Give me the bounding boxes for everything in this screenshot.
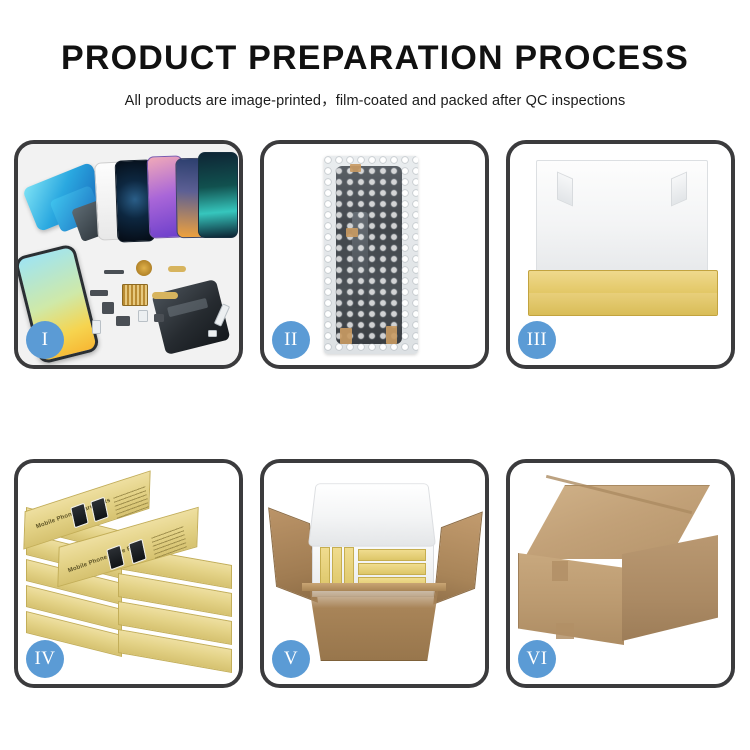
header: PRODUCT PREPARATION PROCESS All products… — [0, 0, 750, 110]
small-part-icon — [138, 310, 148, 322]
carton-tape-lower — [556, 623, 574, 639]
product-preparation-infographic: PRODUCT PREPARATION PROCESS All products… — [0, 0, 750, 750]
tape-piece-bottom-right-icon — [386, 326, 397, 344]
open-carton-with-boxes-image: V — [264, 463, 485, 684]
screw-pack-icon — [154, 314, 164, 322]
bubble-wrap-bag-icon — [324, 156, 418, 354]
step-badge-2: II — [272, 321, 310, 359]
flex-cable-2-icon — [152, 292, 178, 299]
bubble-wrapped-part-image: II — [264, 144, 485, 365]
lid-flap-left-icon — [557, 171, 573, 206]
white-foam-lid-icon — [536, 160, 708, 278]
process-step-panel-1[interactable]: I — [14, 140, 243, 369]
tape-piece-bottom-left-icon — [340, 328, 352, 344]
sim-tray-icon — [92, 320, 101, 334]
bubble-texture-overlay — [324, 156, 418, 354]
box-front-panel — [529, 293, 717, 315]
open-kraft-box-image: III — [510, 144, 731, 365]
speaker-coil-icon — [136, 260, 152, 276]
carton-body-icon — [300, 585, 448, 661]
kraft-box-base-icon — [528, 270, 718, 316]
step-badge-1: I — [26, 321, 64, 359]
step-badge-4: IV — [26, 640, 64, 678]
step-badge-5: V — [272, 640, 310, 678]
phone-screens-and-parts-image: I — [18, 144, 239, 365]
logic-board-icon — [122, 284, 148, 306]
yellow-box-4 — [358, 549, 426, 561]
process-step-panel-6[interactable]: VI — [506, 459, 735, 688]
process-step-panel-2[interactable]: II — [260, 140, 489, 369]
stacked-retail-boxes-image: Mobile Phone Spare Parts Mobile Phone Sp… — [18, 463, 239, 684]
page-title: PRODUCT PREPARATION PROCESS — [0, 40, 750, 77]
tool-tip-icon — [208, 330, 217, 337]
carton-tape-upper — [552, 561, 568, 581]
tape-piece-top-icon — [350, 164, 361, 172]
vibrator-icon — [116, 316, 130, 326]
step-badge-3: III — [518, 321, 556, 359]
process-step-panel-3[interactable]: III — [506, 140, 735, 369]
lid-flap-right-icon — [671, 171, 687, 206]
sealed-shipping-carton-image: VI — [510, 463, 731, 684]
carton-rim — [302, 583, 446, 591]
camera-module-icon — [102, 302, 114, 314]
process-step-panel-5[interactable]: V — [260, 459, 489, 688]
styrofoam-lid-icon — [308, 483, 436, 546]
tape-piece-middle-icon — [346, 228, 358, 237]
bracket-icon — [90, 290, 108, 296]
page-subtitle: All products are image-printed，film-coat… — [0, 89, 750, 110]
yellow-box-5 — [358, 563, 426, 575]
process-step-panel-4[interactable]: Mobile Phone Spare Parts Mobile Phone Sp… — [14, 459, 243, 688]
step-badge-6: VI — [518, 640, 556, 678]
flex-cable-icon — [168, 266, 186, 272]
connector-strip-icon — [104, 270, 124, 274]
teal-screen-icon — [198, 152, 238, 238]
process-step-grid: I II — [14, 140, 736, 688]
